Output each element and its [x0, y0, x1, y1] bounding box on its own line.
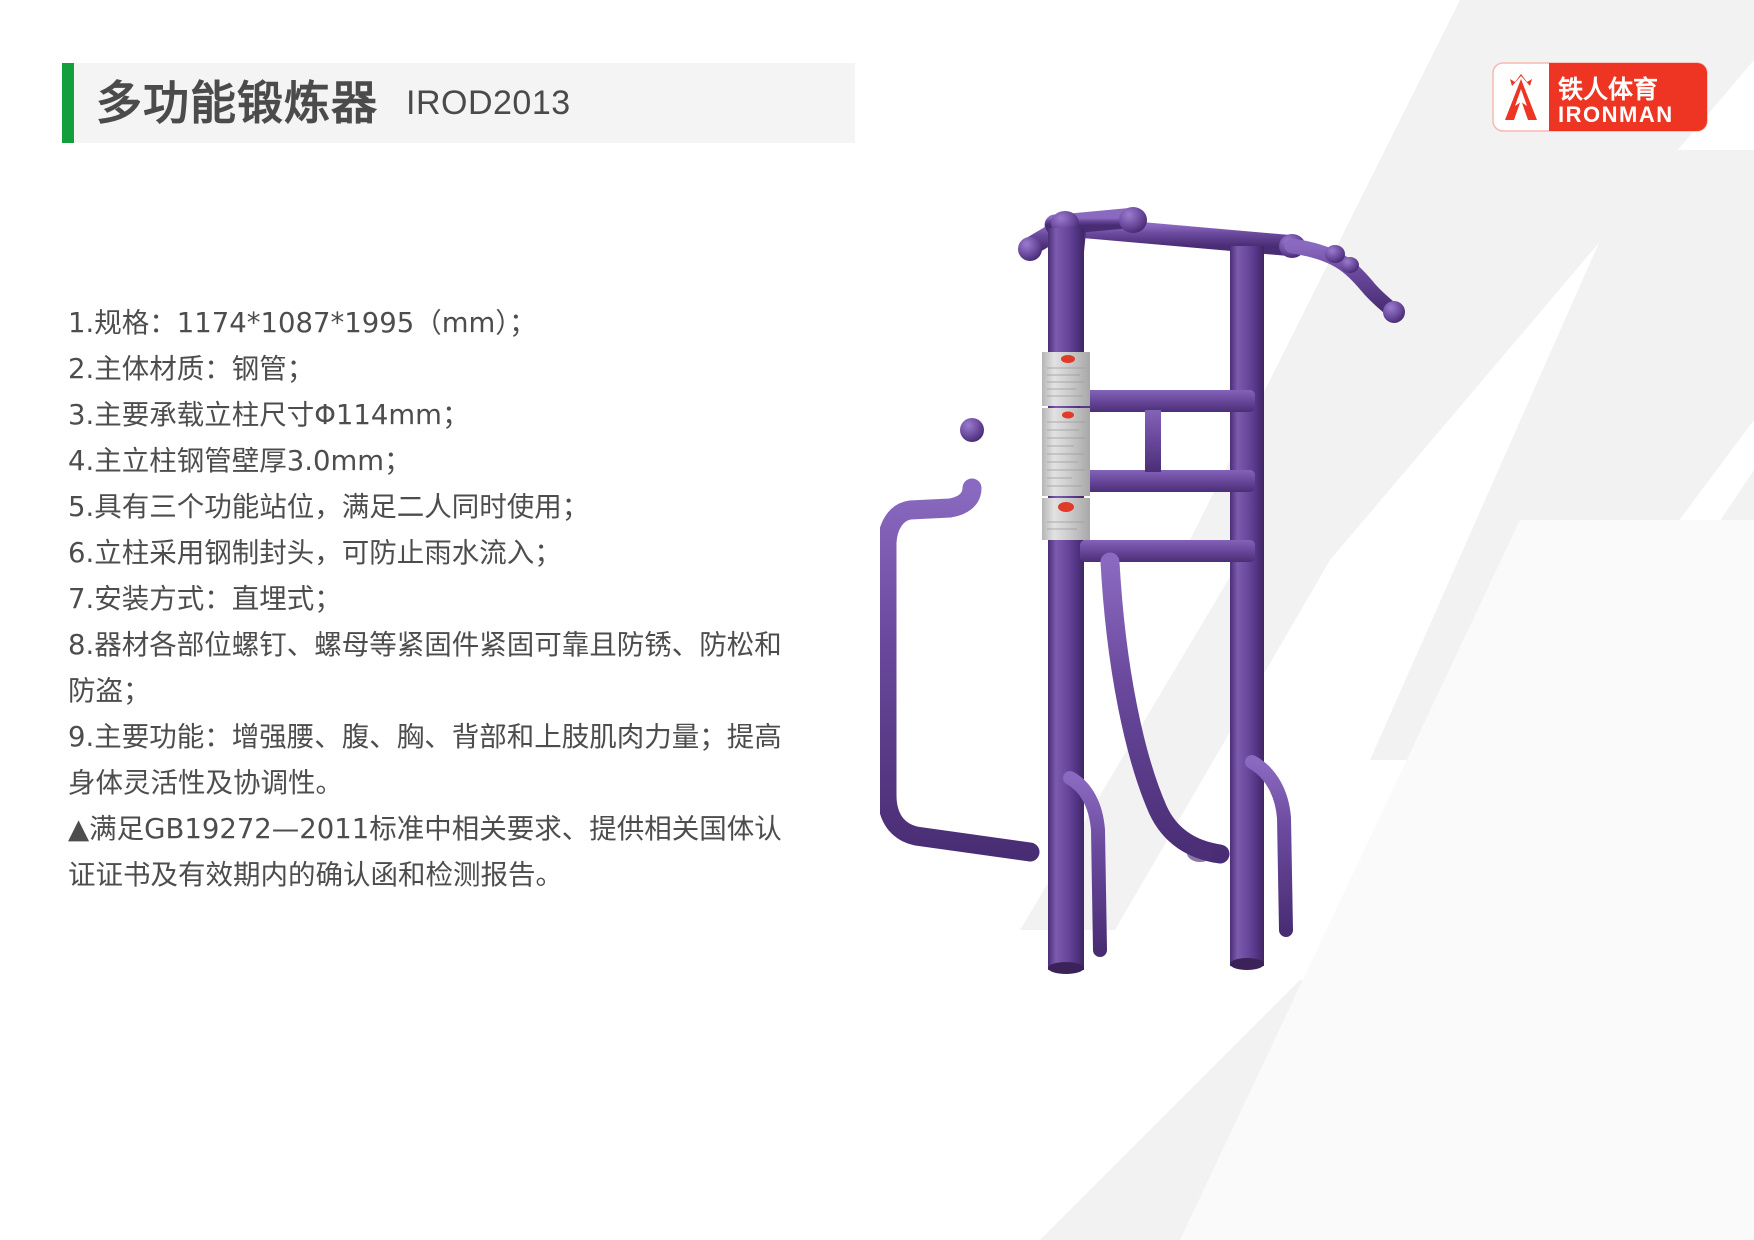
brand-logo: 铁人体育 IRONMAN	[1492, 62, 1708, 132]
spec-line: ▲满足GB19272—2011标准中相关要求、提供相关国体认证证书及有效期内的确…	[68, 806, 788, 898]
page-title: 多功能锻炼器	[96, 80, 378, 126]
product-spec-page: 多功能锻炼器 IROD2013 铁人体育 IRONMAN 1.规格：1174*1…	[0, 0, 1754, 1240]
model-code: IROD2013	[406, 86, 571, 120]
instruction-label-plate	[1042, 352, 1090, 540]
spec-line: 1.规格：1174*1087*1995（mm）；	[68, 300, 788, 346]
spec-line: 4.主立柱钢管壁厚3.0mm；	[68, 438, 788, 484]
vertical-posts	[1048, 228, 1264, 974]
spec-line: 3.主要承载立柱尺寸Φ114mm；	[68, 392, 788, 438]
spec-line: 8.器材各部位螺钉、螺母等紧固件紧固可靠且防锈、防松和防盗；	[68, 622, 788, 714]
center-curved-tube	[1110, 562, 1220, 862]
brand-name-en: IRONMAN	[1558, 102, 1674, 127]
page-title-group: 多功能锻炼器 IROD2013	[96, 63, 571, 143]
specification-list: 1.规格：1174*1087*1995（mm）； 2.主体材质：钢管； 3.主要…	[68, 300, 788, 898]
product-image	[880, 170, 1500, 990]
spec-line: 7.安装方式：直埋式；	[68, 576, 788, 622]
side-handle-loop	[887, 418, 1040, 852]
spec-line: 2.主体材质：钢管；	[68, 346, 788, 392]
spec-line: 6.立柱采用钢制封头，可防止雨水流入；	[68, 530, 788, 576]
spec-line: 5.具有三个功能站位，满足二人同时使用；	[68, 484, 788, 530]
brand-name-cn: 铁人体育	[1558, 75, 1658, 104]
header-accent-bar	[62, 63, 74, 143]
spec-line: 9.主要功能：增强腰、腹、胸、背部和上肢肌肉力量；提高身体灵活性及协调性。	[68, 714, 788, 806]
back-rest-bars	[1080, 390, 1255, 562]
